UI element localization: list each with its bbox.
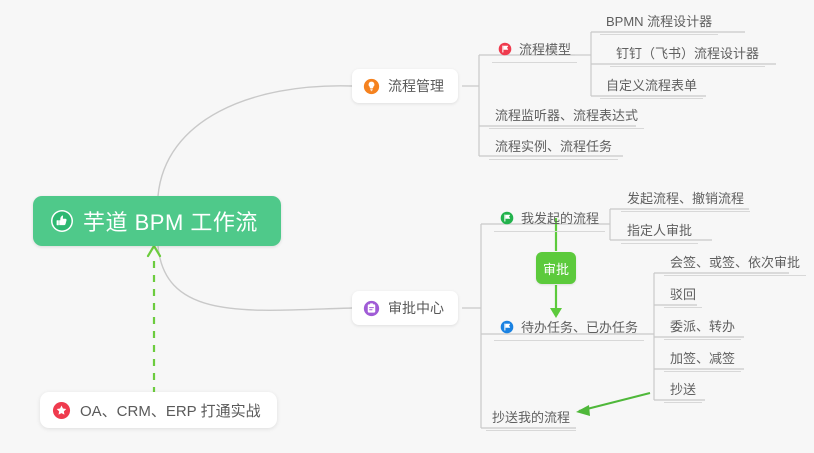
branch-node-process-management[interactable]: 流程管理 — [352, 69, 458, 103]
leaf-countersign-orsign-sequential[interactable]: 会签、或签、依次审批 — [664, 254, 806, 276]
clipboard-icon — [363, 300, 380, 317]
leaf-cc-to-me-processes[interactable]: 抄送我的流程 — [486, 409, 576, 431]
wire-root-to-approval-center — [158, 246, 352, 310]
leaf-add-remove-sign[interactable]: 加签、减签 — [664, 350, 741, 372]
leaf-carbon-copy[interactable]: 抄送 — [664, 381, 702, 403]
branch-label-process-management: 流程管理 — [388, 76, 444, 96]
annotation-badge-approval: 审批 — [536, 252, 576, 284]
sub-node-my-started-processes[interactable]: 我发起的流程 — [494, 208, 605, 232]
sub-label-my-started-processes: 我发起的流程 — [521, 208, 599, 227]
footer-card-integration[interactable]: OA、CRM、ERP 打通实战 — [40, 392, 277, 428]
branch-label-approval-center: 审批中心 — [388, 298, 444, 318]
arrow-integration-head — [148, 246, 160, 256]
thumbs-up-icon — [50, 209, 74, 233]
root-node[interactable]: 芋道 BPM 工作流 — [33, 196, 281, 246]
arrow-cc-head — [576, 405, 590, 416]
leaf-reject[interactable]: 驳回 — [664, 286, 702, 308]
leaf-custom-process-form[interactable]: 自定义流程表单 — [600, 77, 703, 99]
leaf-process-instance-task[interactable]: 流程实例、流程任务 — [489, 138, 618, 160]
footer-card-label: OA、CRM、ERP 打通实战 — [80, 400, 261, 421]
sub-label-process-model: 流程模型 — [519, 39, 571, 58]
sub-node-process-model[interactable]: 流程模型 — [492, 39, 577, 63]
annotation-badge-approval-label: 审批 — [543, 259, 569, 278]
root-label: 芋道 BPM 工作流 — [83, 205, 258, 237]
leaf-start-cancel-process[interactable]: 发起流程、撤销流程 — [621, 190, 750, 212]
wire-root-to-process-management — [158, 86, 352, 196]
leaf-process-listener-expression[interactable]: 流程监听器、流程表达式 — [489, 107, 644, 129]
flag-icon-green — [500, 211, 514, 225]
mindmap-canvas: 芋道 BPM 工作流 流程管理 流程模型 BPMN 流程设计器 钉钉（飞书）流程… — [0, 0, 814, 453]
sub-node-todo-done-tasks[interactable]: 待办任务、已办任务 — [494, 317, 644, 341]
leaf-designated-approver[interactable]: 指定人审批 — [621, 222, 698, 244]
lightbulb-icon — [363, 78, 380, 95]
leaf-dingtalk-feishu-designer[interactable]: 钉钉（飞书）流程设计器 — [610, 45, 765, 67]
arrow-cc-line — [579, 393, 650, 411]
leaf-delegate-transfer[interactable]: 委派、转办 — [664, 318, 741, 340]
flag-icon-blue — [500, 320, 514, 334]
star-icon — [52, 401, 71, 420]
branch-node-approval-center[interactable]: 审批中心 — [352, 291, 458, 325]
sub-label-todo-done-tasks: 待办任务、已办任务 — [521, 317, 638, 336]
leaf-bpmn-designer[interactable]: BPMN 流程设计器 — [600, 13, 718, 35]
flag-icon-red — [498, 42, 512, 56]
